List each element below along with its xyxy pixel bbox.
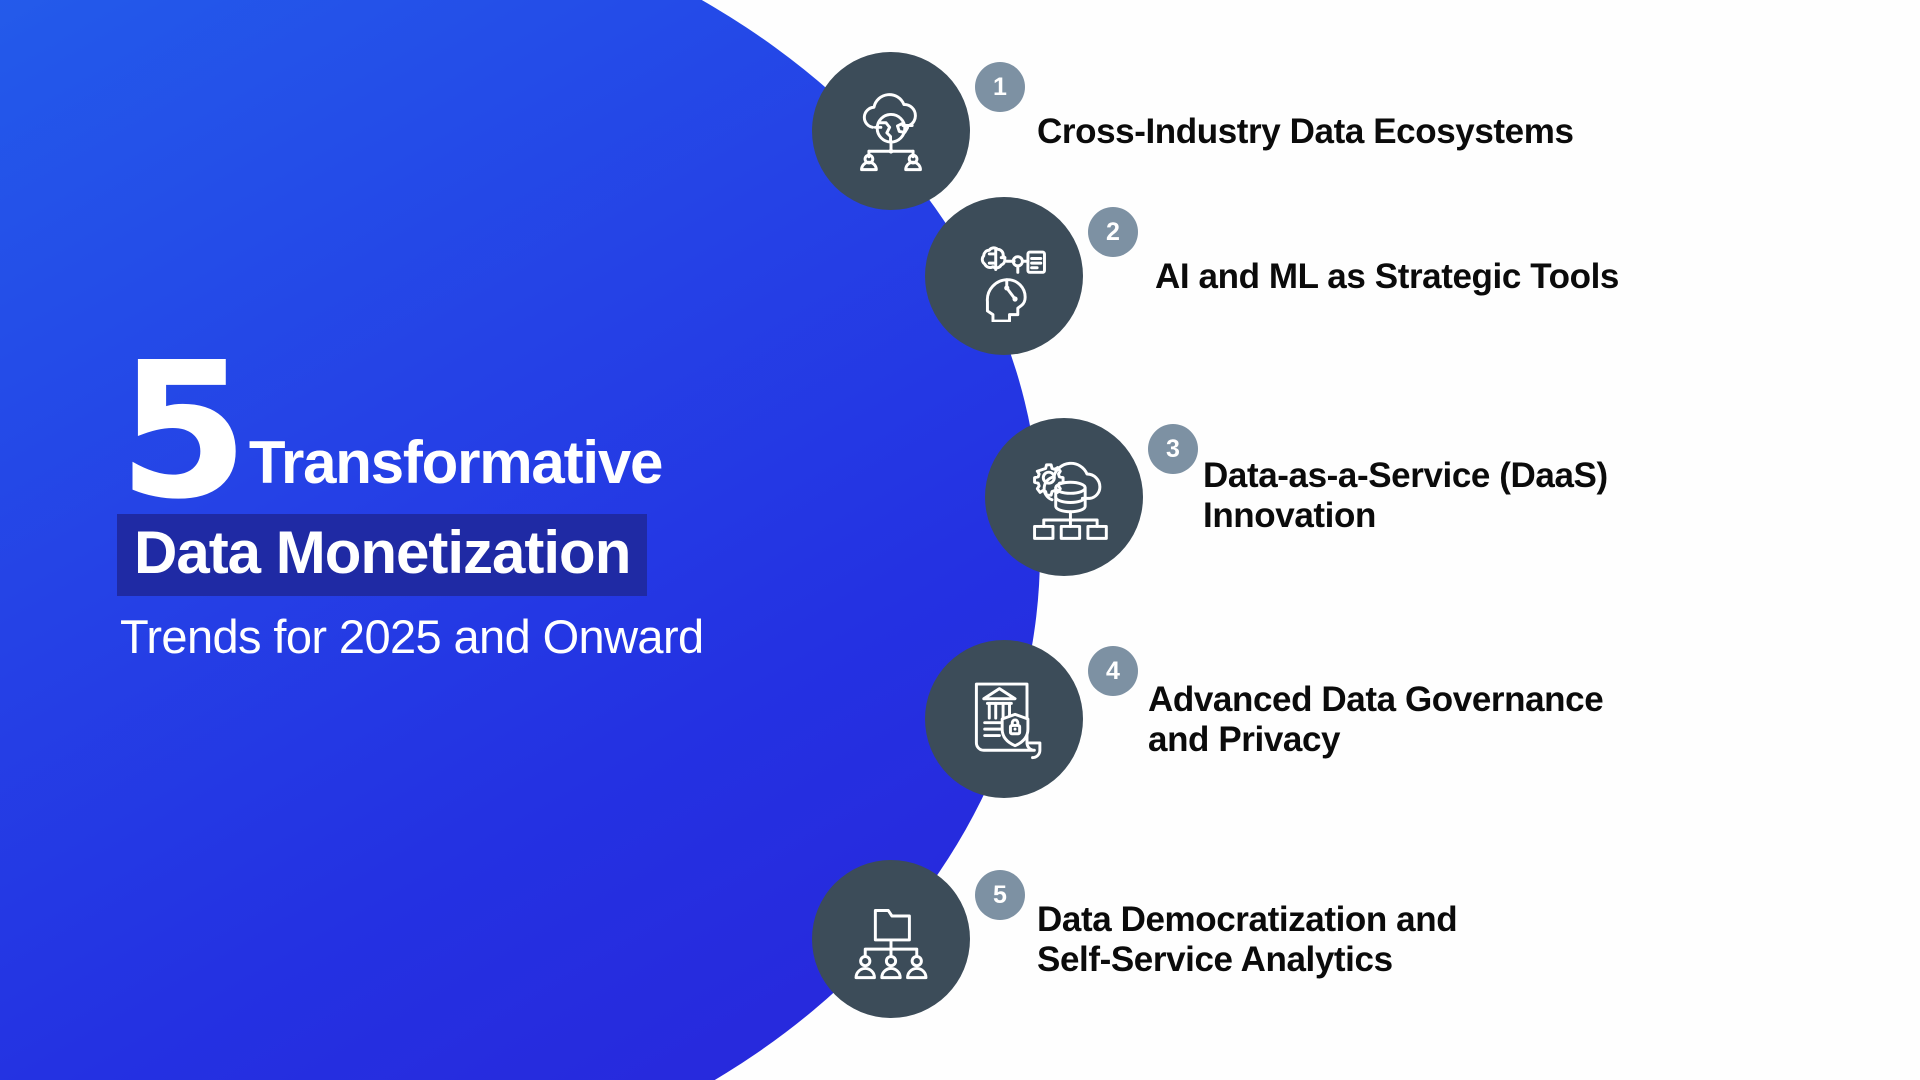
headline-highlight-data-monetization: Data Monetization	[118, 515, 646, 595]
cloud-globe-network-icon	[845, 85, 937, 177]
item-number-badge: 1	[975, 62, 1025, 112]
item-label: Advanced Data Governance and Privacy	[1148, 680, 1908, 761]
item-number-badge: 2	[1088, 207, 1138, 257]
item-number-badge: 5	[975, 870, 1025, 920]
title-block: 5 Transformative Data Monetization Trend…	[118, 355, 878, 664]
headline-subtitle: Trends for 2025 and Onward	[118, 609, 878, 664]
item-icon-circle	[925, 197, 1083, 355]
highlight-row: Data Monetization	[118, 515, 878, 595]
document-shield-lock-icon	[958, 673, 1050, 765]
cloud-database-gear-icon	[1018, 451, 1110, 543]
folder-people-hierarchy-icon	[845, 893, 937, 985]
item-label: AI and ML as Strategic Tools	[1155, 257, 1915, 297]
item-label: Data-as-a-Service (DaaS) Innovation	[1203, 456, 1920, 537]
item-icon-circle	[812, 860, 970, 1018]
item-label: Cross-Industry Data Ecosystems	[1037, 112, 1797, 152]
headline-number: 5	[118, 355, 243, 509]
title-first-line: 5 Transformative	[118, 355, 878, 509]
item-label: Data Democratization and Self-Service An…	[1037, 900, 1797, 981]
infographic-canvas: 5 Transformative Data Monetization Trend…	[0, 0, 1920, 1080]
item-icon-circle	[812, 52, 970, 210]
item-icon-circle	[985, 418, 1143, 576]
item-number-badge: 3	[1148, 424, 1198, 474]
brain-head-ai-icon	[958, 230, 1050, 322]
item-icon-circle	[925, 640, 1083, 798]
headline-word-transformative: Transformative	[243, 433, 662, 509]
item-number-badge: 4	[1088, 646, 1138, 696]
